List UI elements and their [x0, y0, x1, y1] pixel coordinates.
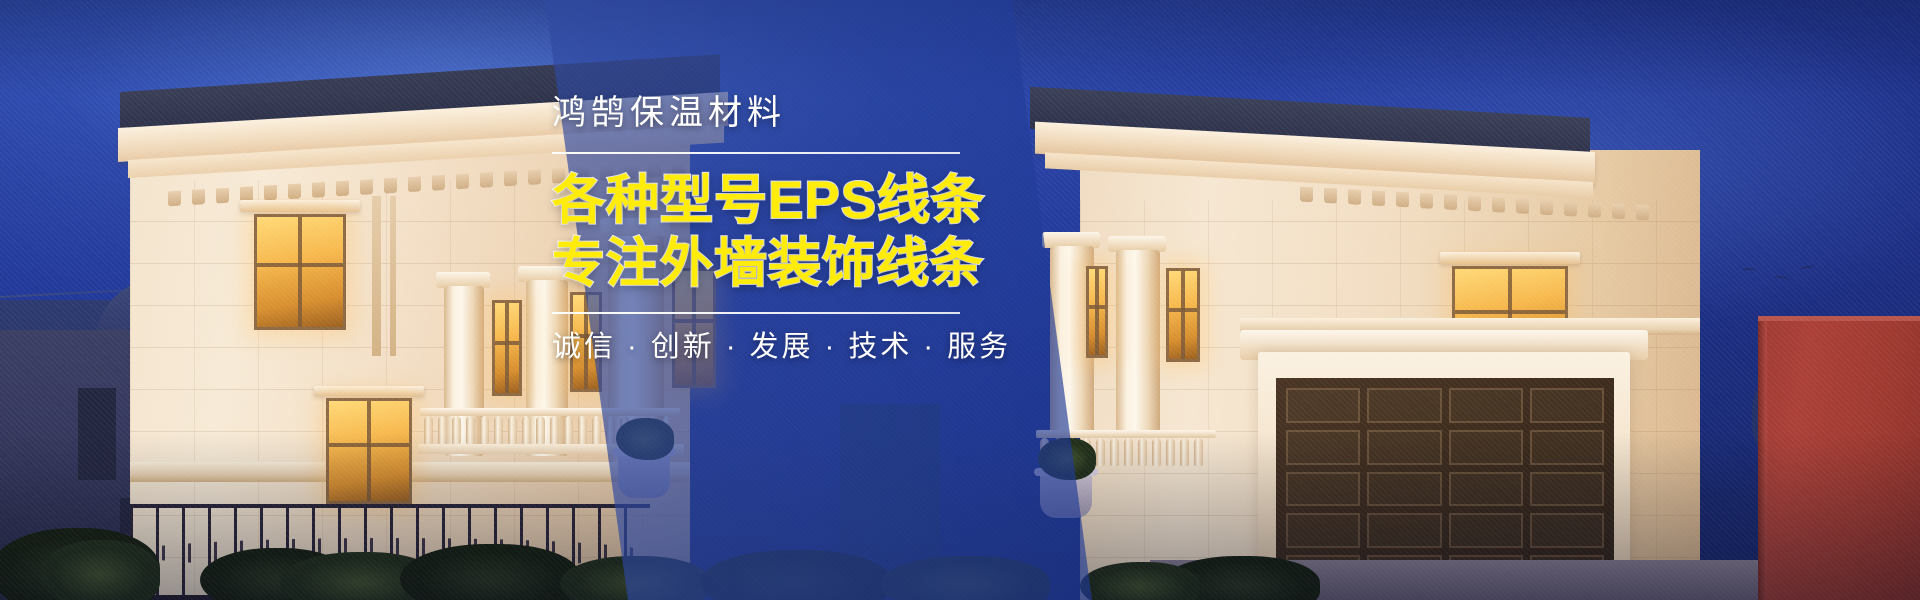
banner-copy-block: 鸿鹄保温材料 各种型号EPS线条 专注外墙装饰线条 诚信 · 创新 · 发展 ·… [552, 96, 1022, 362]
lit-window [326, 398, 412, 504]
headline-line-1: 各种型号EPS线条 [552, 172, 1022, 229]
foreground-shrub [880, 556, 1050, 600]
window-hood [1440, 252, 1580, 264]
red-wall-edge [1758, 318, 1767, 600]
potted-shrub [1038, 438, 1096, 480]
shaded-window [78, 388, 116, 480]
foreground-shrub [400, 544, 580, 600]
headline-group: 各种型号EPS线条 专注外墙装饰线条 [552, 172, 1022, 292]
window-hood [314, 386, 424, 396]
divider-bottom [552, 312, 960, 314]
headline-line-2: 专注外墙装饰线条 [552, 235, 1022, 292]
foreground-shrub [1080, 562, 1200, 600]
bird-icon [1742, 268, 1756, 273]
foreground-shrub [700, 550, 890, 600]
potted-shrub [616, 418, 674, 460]
foreground-shrub [560, 556, 710, 600]
tagline: 诚信 · 创新 · 发展 · 技术 · 服务 [552, 333, 1022, 362]
entrance-door [840, 404, 940, 574]
pilaster [372, 196, 381, 356]
lit-window [254, 214, 346, 330]
balcony-rail [420, 408, 680, 416]
window-hood [240, 200, 360, 212]
lit-window [1166, 268, 1200, 362]
balcony-rail [1036, 430, 1216, 438]
divider-bottom-wrap [552, 312, 1022, 314]
brand-name: 鸿鹄保温材料 [552, 96, 1022, 130]
promo-banner: 鸿鹄保温材料 各种型号EPS线条 专注外墙装饰线条 诚信 · 创新 · 发展 ·… [0, 0, 1920, 600]
pilaster [390, 196, 396, 356]
lit-window [492, 300, 522, 396]
divider-top [552, 152, 960, 154]
red-wall-panel [1758, 318, 1920, 600]
foreground-shrub [40, 540, 160, 600]
lit-window [1086, 266, 1108, 358]
red-wall-cap [1758, 316, 1920, 321]
string-course [1240, 318, 1700, 330]
column [1116, 250, 1160, 438]
